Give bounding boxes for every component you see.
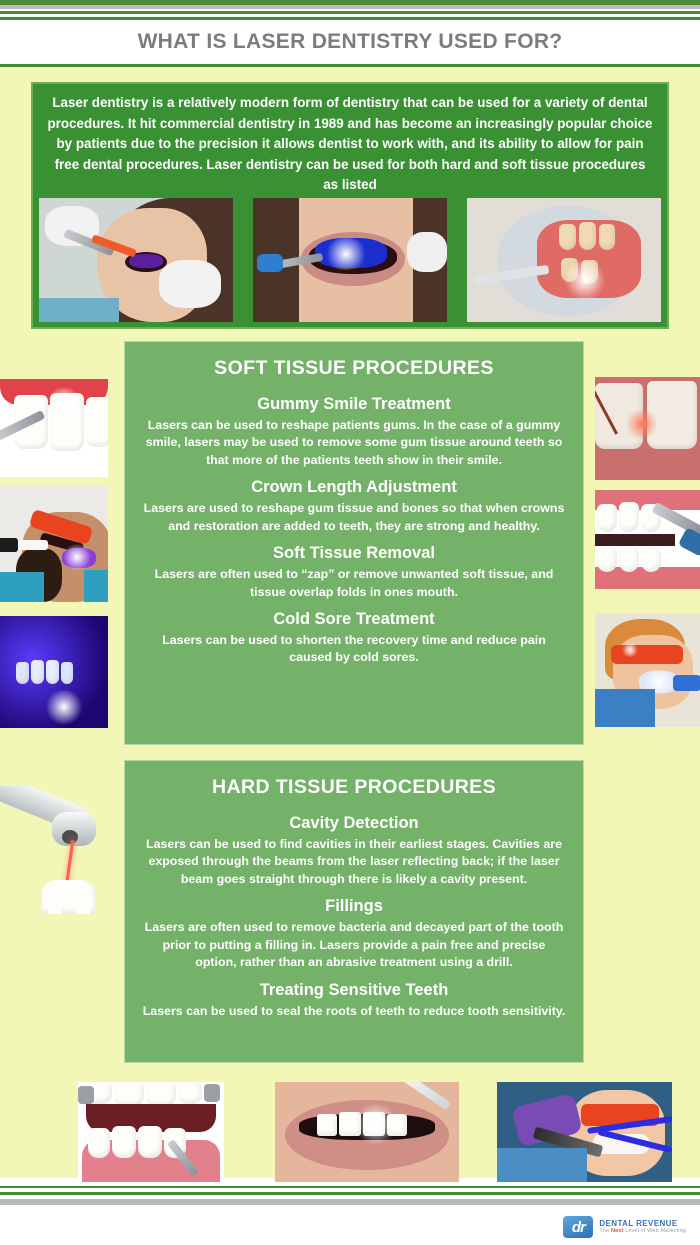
procedure-title: Cold Sore Treatment <box>137 609 571 630</box>
footer-logo[interactable]: dr DENTAL REVENUE The Next Level of Web … <box>563 1216 686 1238</box>
intro-image-row <box>31 198 669 326</box>
side-image-patient-orange-goggles <box>0 486 108 602</box>
tagline-post: Level of Web Marketing <box>623 1228 686 1234</box>
bottom-green-stripe-1 <box>0 1186 700 1188</box>
side-image-boy-red-goggles <box>595 613 700 727</box>
side-image-uv-blue-light-mouth <box>0 616 108 728</box>
procedure-description: Lasers can be used to shorten the recove… <box>137 632 571 667</box>
bottom-image-lower-teeth-laser <box>78 1082 224 1182</box>
infographic-page: WHAT IS LASER DENTISTRY USED FOR? Laser … <box>0 0 700 1245</box>
procedure-item: Cavity Detection Lasers can be used to f… <box>137 813 571 888</box>
procedure-item: Treating Sensitive Teeth Lasers can be u… <box>137 980 571 1020</box>
side-image-tooth-gum-laser-illustration <box>0 379 108 477</box>
top-green-stripe-1 <box>0 11 700 14</box>
tagline-pre: The <box>599 1228 611 1234</box>
procedure-description: Lasers are used to reshape gum tissue an… <box>137 500 571 535</box>
intro-image-red-laser-gum <box>467 198 661 322</box>
procedure-title: Cavity Detection <box>137 813 571 834</box>
procedure-title: Gummy Smile Treatment <box>137 394 571 415</box>
side-image-teeth-red-laser <box>595 377 700 480</box>
section-hard-tissue: HARD TISSUE PROCEDURES Cavity Detection … <box>124 760 584 1063</box>
procedure-item: Crown Length Adjustment Lasers are used … <box>137 477 571 535</box>
section-title-soft-tissue: SOFT TISSUE PROCEDURES <box>137 357 571 380</box>
intro-paragraph: Laser dentistry is a relatively modern f… <box>47 93 653 196</box>
procedure-title: Treating Sensitive Teeth <box>137 980 571 1001</box>
intro-image-woman-laser-treatment <box>39 198 233 322</box>
procedure-title: Crown Length Adjustment <box>137 477 571 498</box>
side-image-teeth-probe <box>595 490 700 589</box>
page-title: WHAT IS LASER DENTISTRY USED FOR? <box>138 30 563 54</box>
procedure-description: Lasers can be used to reshape patients g… <box>137 417 571 470</box>
footer-tagline: The Next Level of Web Marketing <box>599 1228 686 1234</box>
footer-brand-name: DENTAL REVENUE <box>599 1220 686 1229</box>
procedure-description: Lasers are often used to “zap” or remove… <box>137 566 571 601</box>
procedure-description: Lasers are often used to remove bacteria… <box>137 919 571 972</box>
bottom-image-row <box>0 1082 700 1182</box>
procedure-item: Fillings Lasers are often used to remove… <box>137 896 571 971</box>
intro-image-blue-laser-mouth <box>253 198 447 322</box>
bottom-green-stripe-2 <box>0 1192 700 1195</box>
top-gray-bar <box>0 5 700 9</box>
procedure-title: Soft Tissue Removal <box>137 543 571 564</box>
tagline-highlight: Next <box>611 1228 624 1234</box>
procedure-description: Lasers can be used to find cavities in t… <box>137 836 571 889</box>
bottom-image-child-patient-treatment <box>497 1082 672 1182</box>
procedure-title: Fillings <box>137 896 571 917</box>
procedure-item: Cold Sore Treatment Lasers can be used t… <box>137 609 571 667</box>
section-soft-tissue: SOFT TISSUE PROCEDURES Gummy Smile Treat… <box>124 341 584 745</box>
procedure-item: Gummy Smile Treatment Lasers can be used… <box>137 394 571 469</box>
title-band: WHAT IS LASER DENTISTRY USED FOR? <box>0 20 700 64</box>
procedure-item: Soft Tissue Removal Lasers are often use… <box>137 543 571 601</box>
footer-logo-text: DENTAL REVENUE The Next Level of Web Mar… <box>599 1220 686 1235</box>
side-image-handpiece-tooth-laser <box>0 786 108 914</box>
procedure-description: Lasers can be used to seal the roots of … <box>137 1003 571 1021</box>
dental-revenue-logo-icon: dr <box>563 1216 593 1238</box>
section-title-hard-tissue: HARD TISSUE PROCEDURES <box>137 776 571 799</box>
bottom-image-smile-whitening-laser <box>275 1082 459 1182</box>
